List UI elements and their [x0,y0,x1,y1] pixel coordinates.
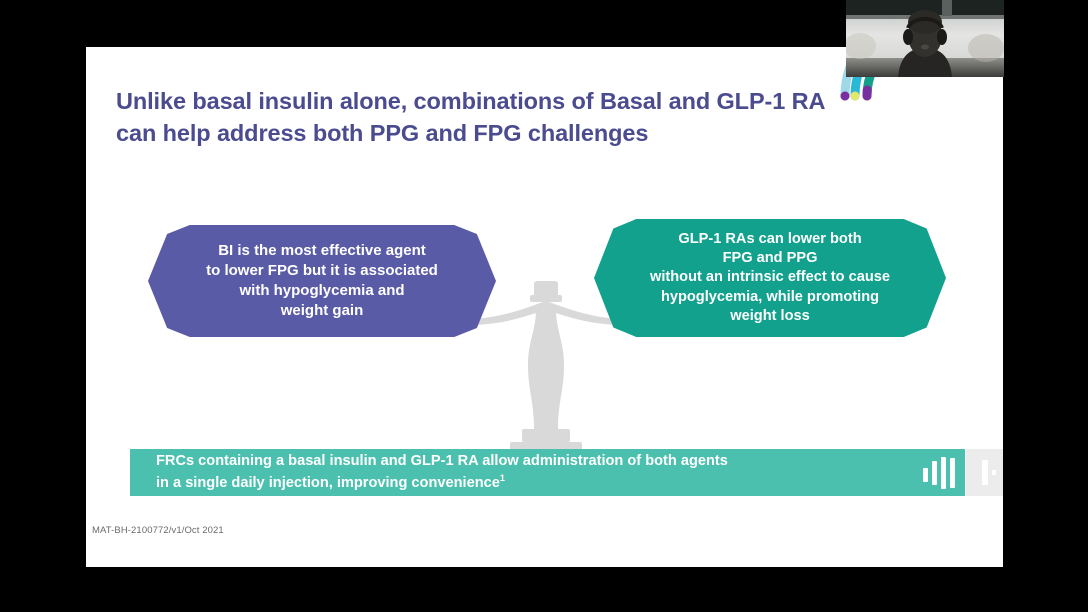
callout-line: weight loss [730,308,809,324]
callout-line: BI is the most effective agent [218,242,426,259]
callout-line: FPG and PPG [723,250,818,266]
banner-line: FRCs containing a basal insulin and GLP-… [156,453,728,469]
callout-basal-insulin: BI is the most effective agent to lower … [148,225,496,337]
callout-glp1-ra-text: GLP-1 RAs can lower both FPG and PPG wit… [650,230,890,326]
callout-line: GLP-1 RAs can lower both [678,231,861,247]
callout-line: hypoglycemia, while promoting [661,289,879,305]
reference-code: MAT-BH-2100772/v1/Oct 2021 [92,525,224,536]
banner-bars-icon [923,449,965,496]
page-title: Unlike basal insulin alone, combinations… [116,85,856,150]
banner-endcap-icon [966,449,1003,496]
shared-presentation-slide: Unlike basal insulin alone, combinations… [86,47,1003,567]
video-call-stage: Unlike basal insulin alone, combinations… [0,0,1088,612]
banner-line: in a single daily injection, improving c… [156,474,500,490]
key-message-banner-text: FRCs containing a basal insulin and GLP-… [130,452,923,494]
callout-line: to lower FPG but it is associated [206,262,438,279]
balance-scale-icon [472,279,620,477]
callout-line: without an intrinsic effect to cause [650,269,890,285]
callout-line: weight gain [281,302,364,319]
key-message-banner: FRCs containing a basal insulin and GLP-… [130,449,965,496]
footnote-marker: 1 [500,473,505,483]
callout-basal-insulin-text: BI is the most effective agent to lower … [206,241,438,320]
callout-line: with hypoglycemia and [239,282,404,299]
webcam-video-tile[interactable] [846,0,1004,77]
callout-glp1-ra: GLP-1 RAs can lower both FPG and PPG wit… [594,219,946,337]
